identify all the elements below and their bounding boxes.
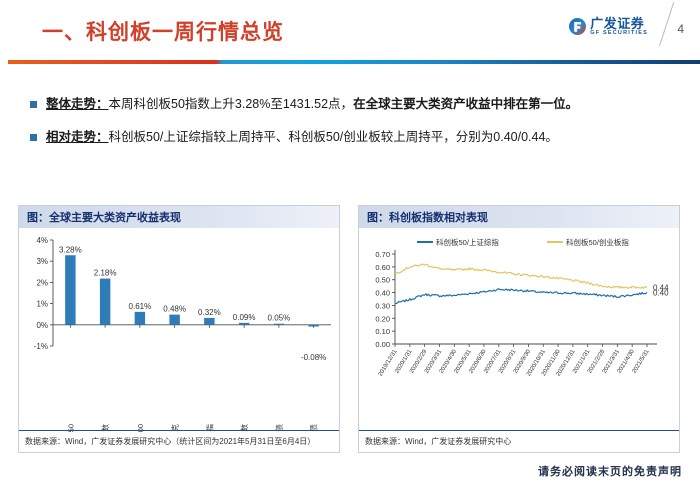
bar-chart-area: 4%3%2%1%0%-1%3.28%科创板502.18%RJ/CRB商品价格指数…: [19, 228, 339, 432]
source-note-left: 数据来源：Wind，广发证券发展研究中心（统计区间为2021年5月31日至6月4…: [19, 430, 339, 452]
panel-asset-returns: 图：全球主要大类资产收益表现 4%3%2%1%0%-1%3.28%科创板502.…: [18, 205, 340, 453]
brand-name-cn: 广发证券: [590, 17, 648, 30]
bullet-marker-icon: [30, 101, 37, 108]
line-chart: 科创板50/上证综指科创板50/创业板指0.700.600.500.400.30…: [359, 228, 679, 432]
bullet-body-2: 科创板50/上证综指较上周持平、科创板50/创业板较上周持平，分别为0.40/0…: [109, 130, 558, 144]
svg-text:0.00: 0.00: [375, 340, 390, 349]
svg-text:3.28%: 3.28%: [59, 245, 82, 254]
svg-text:0.32%: 0.32%: [198, 308, 221, 317]
panel-title-left: 图：全球主要大类资产收益表现: [19, 206, 339, 228]
svg-text:0.05%: 0.05%: [268, 314, 291, 323]
svg-text:0.20: 0.20: [375, 314, 390, 323]
brand-name-en: GF SECURITIES: [590, 31, 648, 37]
source-note-right: 数据来源：Wind，广发证券发展研究中心: [359, 430, 679, 452]
header-divider-slash: [659, 2, 674, 46]
svg-text:0.30: 0.30: [375, 301, 390, 310]
svg-text:0.70: 0.70: [375, 250, 390, 259]
bullet-strong-1: 在全球主要大类资产收益中排在第一位。: [353, 97, 578, 111]
svg-text:0.40: 0.40: [375, 289, 390, 298]
bullet-body-1: 本周科创板50指数上升3.28%至1431.52点，: [109, 97, 354, 111]
svg-text:1%: 1%: [36, 300, 48, 309]
svg-text:2%: 2%: [36, 278, 48, 287]
svg-text:3%: 3%: [36, 257, 48, 266]
svg-text:0.48%: 0.48%: [163, 305, 186, 314]
bullet-lead-2: 相对走势：: [46, 130, 109, 144]
bullet-text-1: 整体走势：本周科创板50指数上升3.28%至1431.52点，在全球主要大类资产…: [46, 96, 578, 112]
bullet-lead-1: 整体走势：: [46, 97, 109, 111]
line-chart-area: 科创板50/上证综指科创板50/创业板指0.700.600.500.400.30…: [359, 228, 679, 432]
header-gradient-rule: [8, 60, 700, 64]
svg-text:0.60: 0.60: [375, 263, 390, 272]
svg-text:科创板50/上证综指: 科创板50/上证综指: [436, 237, 499, 247]
svg-text:0.61%: 0.61%: [129, 302, 152, 311]
svg-text:0.09%: 0.09%: [233, 313, 256, 322]
svg-text:0.50: 0.50: [375, 276, 390, 285]
svg-text:科创板50/创业板指: 科创板50/创业板指: [566, 237, 629, 247]
page-title: 一、科创板一周行情总览: [42, 16, 284, 46]
panel-title-right: 图：科创板指数相对表现: [359, 206, 679, 228]
svg-text:0.44: 0.44: [653, 283, 669, 292]
bullet-text-2: 相对走势：科创板50/上证综指较上周持平、科创板50/创业板较上周持平，分别为0…: [46, 129, 558, 145]
slide-header: 一、科创板一周行情总览 广发证券 GF SECURITIES 4: [0, 0, 700, 56]
brand-logo: 广发证券 GF SECURITIES: [569, 17, 648, 37]
svg-text:0.10: 0.10: [375, 327, 390, 336]
list-item: 相对走势：科创板50/上证综指较上周持平、科创板50/创业板较上周持平，分别为0…: [30, 129, 680, 145]
svg-text:-0.08%: -0.08%: [301, 353, 326, 362]
svg-text:2.18%: 2.18%: [94, 269, 117, 278]
disclaimer-text: 请务必阅读末页的免责声明: [538, 463, 682, 479]
svg-text:4%: 4%: [36, 236, 48, 245]
panel-relative-performance: 图：科创板指数相对表现 科创板50/上证综指科创板50/创业板指0.700.60…: [358, 205, 680, 453]
page-number: 4: [677, 22, 684, 36]
brand-text: 广发证券 GF SECURITIES: [590, 17, 648, 37]
gf-logo-icon: [569, 18, 586, 35]
bar-chart: 4%3%2%1%0%-1%3.28%科创板502.18%RJ/CRB商品价格指数…: [19, 228, 339, 432]
list-item: 整体走势：本周科创板50指数上升3.28%至1431.52点，在全球主要大类资产…: [30, 96, 680, 112]
bullet-marker-icon: [30, 134, 37, 141]
bullet-list: 整体走势：本周科创板50指数上升3.28%至1431.52点，在全球主要大类资产…: [30, 96, 680, 163]
svg-text:0%: 0%: [36, 321, 48, 330]
svg-text:-1%: -1%: [34, 342, 48, 351]
